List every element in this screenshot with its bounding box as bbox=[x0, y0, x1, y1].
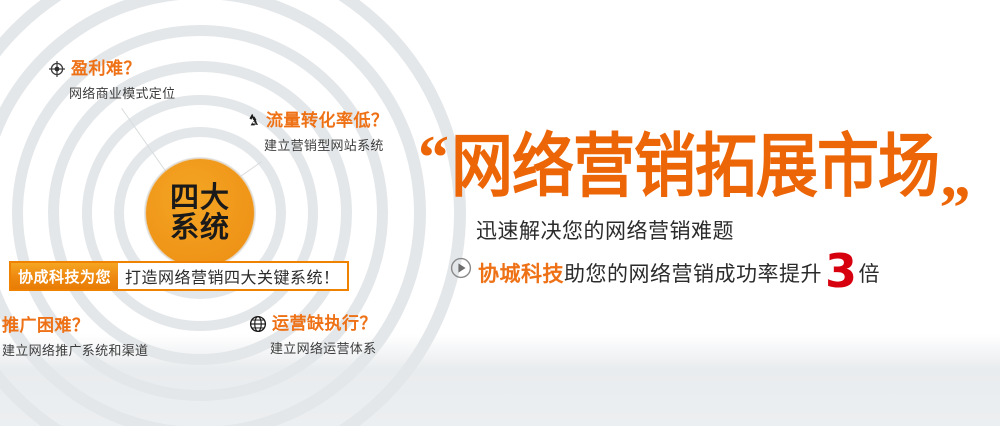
slogan-strip: 协成科技为您 打造网络营销四大关键系统！ bbox=[9, 261, 349, 291]
subheadline-first-line: 迅速解决您的网络营销难题 bbox=[476, 220, 1000, 243]
feature-head-promote: 推广困难？ bbox=[2, 318, 148, 335]
recycle-icon bbox=[243, 112, 261, 130]
feature-title-profit: 盈利难？ bbox=[71, 61, 141, 78]
brand-name-label: 协城科技 bbox=[478, 258, 564, 288]
feature-subtitle-traffic: 建立营销型网站系统 bbox=[264, 135, 389, 154]
center-circle-four-systems: 四大 系统 bbox=[146, 159, 254, 267]
subheadline-middle-text: 助您的网络营销成功率提升 bbox=[564, 258, 822, 288]
feature-item-promote[interactable]: 推广困难？ 建立网络推广系统和渠道 bbox=[2, 318, 148, 359]
right-content-block: “ 网络营销拓展市场 „ 迅速解决您的网络营销难题 协城科技 助您的网络营销成功… bbox=[418, 132, 1000, 288]
subheadline-second-text: 协城科技 助您的网络营销成功率提升 3 倍 bbox=[478, 247, 880, 288]
feature-subtitle-profit: 网络商业模式定位 bbox=[69, 83, 175, 102]
crosshair-target-icon bbox=[48, 60, 66, 78]
feature-title-traffic: 流量转化率低？ bbox=[266, 113, 389, 130]
play-circle-icon bbox=[450, 257, 472, 279]
feature-subtitle-promote: 建立网络推广系统和渠道 bbox=[2, 340, 148, 359]
feature-item-traffic[interactable]: 流量转化率低？ 建立营销型网站系统 bbox=[243, 112, 389, 154]
center-circle-line-1: 四大 bbox=[170, 183, 230, 213]
marketing-banner: 四大 系统 盈利难？ 网络商业模式定位 bbox=[0, 0, 1000, 426]
slogan-strip-message: 打造网络营销四大关键系统！ bbox=[118, 263, 347, 289]
background-bottom-band bbox=[0, 334, 1000, 426]
feature-title-operate: 运营缺执行？ bbox=[272, 316, 377, 333]
headline-row: “ 网络营销拓展市场 „ bbox=[418, 132, 1000, 194]
quote-open-icon: “ bbox=[418, 134, 449, 184]
feature-item-operate[interactable]: 运营缺执行？ 建立网络运营体系 bbox=[249, 315, 377, 357]
feature-head-profit: 盈利难？ bbox=[48, 60, 175, 78]
page-title: 网络营销拓展市场 bbox=[451, 132, 939, 201]
feature-head-operate: 运营缺执行？ bbox=[249, 315, 377, 333]
multiplier-number: 3 bbox=[825, 253, 858, 290]
center-circle-line-2: 系统 bbox=[170, 213, 230, 243]
subheadline-second-line: 协城科技 助您的网络营销成功率提升 3 倍 bbox=[450, 247, 1000, 288]
globe-icon bbox=[249, 315, 267, 333]
slogan-strip-brand: 协成科技为您 bbox=[11, 263, 118, 289]
feature-item-profit[interactable]: 盈利难？ 网络商业模式定位 bbox=[48, 60, 175, 102]
feature-subtitle-operate: 建立网络运营体系 bbox=[270, 338, 377, 357]
feature-title-promote: 推广困难？ bbox=[2, 318, 90, 335]
quote-close-icon: „ bbox=[940, 152, 971, 202]
feature-head-traffic: 流量转化率低？ bbox=[243, 112, 389, 130]
multiplier-unit: 倍 bbox=[859, 258, 881, 288]
